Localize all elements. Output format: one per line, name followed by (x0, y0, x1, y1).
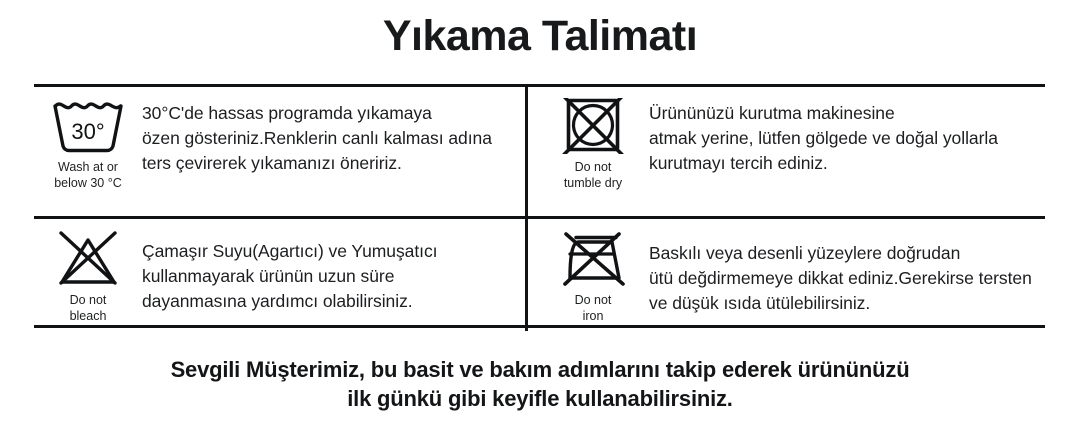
care-icon-block-wash: 30° Wash at or below 30 °C (36, 98, 140, 192)
care-text-wash: 30°C'de hassas programda yıkamaya özen g… (142, 98, 492, 176)
do-not-tumble-dry-icon (556, 98, 630, 154)
care-icon-block-tumble-dry: Do not tumble dry (541, 98, 645, 192)
care-caption-tumble-dry: Do not tumble dry (564, 159, 622, 192)
care-icon-block-iron: Do not iron (541, 231, 645, 325)
care-caption-wash: Wash at or below 30 °C (54, 159, 122, 192)
care-cell-tumble-dry: Do not tumble dry Ürününüzü kurutma maki… (525, 87, 1045, 216)
care-icon-block-bleach: Do not bleach (36, 231, 140, 325)
footer-note: Sevgili Müşterimiz, bu basit ve bakım ad… (0, 355, 1080, 413)
care-cell-bleach: Do not bleach Çamaşır Suyu(Agartıcı) ve … (34, 216, 525, 331)
do-not-bleach-icon (51, 231, 125, 287)
care-cell-wash: 30° Wash at or below 30 °C 30°C'de hassa… (34, 87, 525, 216)
care-caption-bleach: Do not bleach (70, 292, 107, 325)
care-text-tumble-dry: Ürününüzü kurutma makinesine atmak yerin… (649, 98, 998, 176)
care-cell-iron: Do not iron Baskılı veya desenli yüzeyle… (525, 216, 1045, 331)
care-text-iron: Baskılı veya desenli yüzeylere doğrudan … (649, 231, 1032, 316)
care-instruction-table: 30° Wash at or below 30 °C 30°C'de hassa… (34, 84, 1045, 328)
wash-tub-30-icon: 30° (51, 98, 125, 154)
care-text-bleach: Çamaşır Suyu(Agartıcı) ve Yumuşatıcı kul… (142, 231, 438, 314)
page-title: Yıkama Talimatı (0, 12, 1080, 61)
do-not-iron-icon (556, 231, 630, 287)
care-caption-iron: Do not iron (575, 292, 612, 325)
wash-temperature-label: 30° (71, 119, 104, 144)
